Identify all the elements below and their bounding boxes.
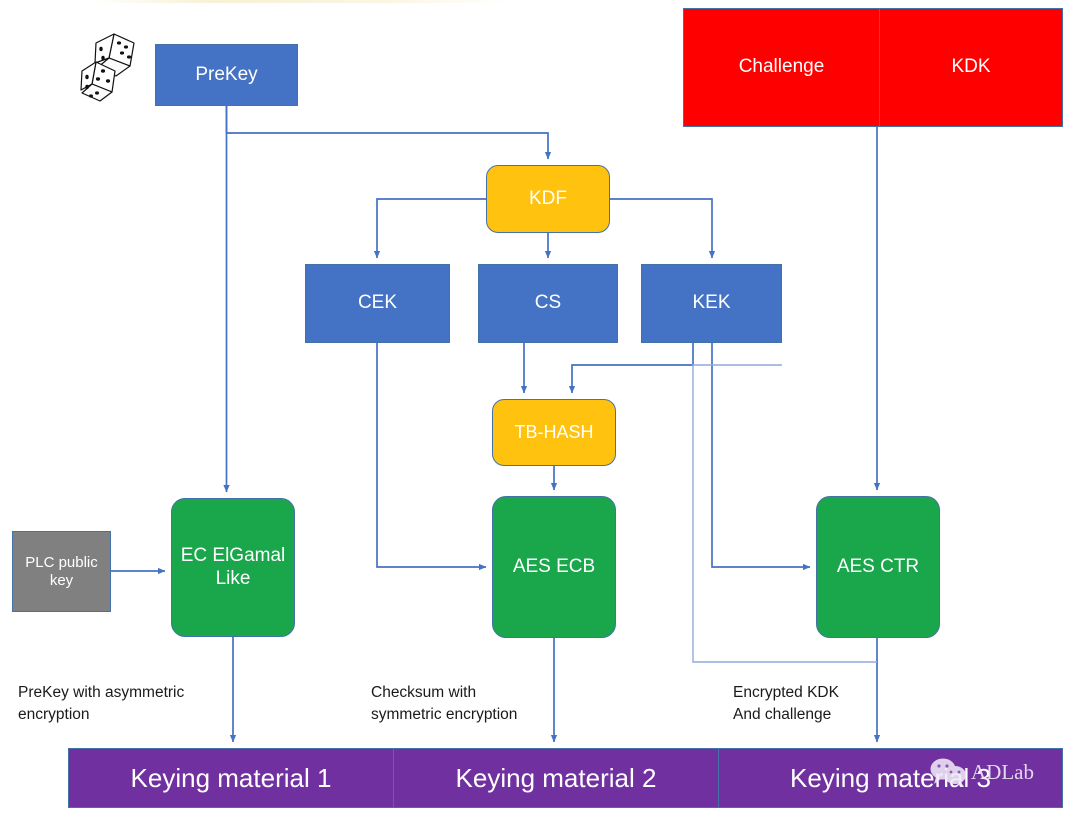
annotation-prekey-asymmetric: PreKey with asymmetric encryption [18, 682, 268, 727]
edge-kdf-to-cek [377, 199, 486, 258]
edge-kdf-to-kek [610, 199, 712, 258]
annotation-encrypted-kdk: Encrypted KDK And challenge [733, 682, 983, 727]
node-keying-material-2[interactable]: Keying material 2 [393, 748, 718, 808]
node-kdk-label: KDK [951, 56, 990, 78]
node-prekey-label: PreKey [195, 64, 257, 86]
node-cek-label: CEK [358, 292, 397, 314]
annotation-checksum-symmetric: Checksum with symmetric encryption [371, 682, 621, 727]
top-edge-artifact [90, 0, 510, 3]
edge-kek-to-tbhash [572, 343, 693, 393]
node-aes-ctr-label: AES CTR [837, 556, 919, 578]
node-kdf[interactable]: KDF [486, 165, 610, 233]
edge-prekey-to-kdf [227, 106, 549, 159]
edge-kek-to-aesctr [712, 343, 810, 567]
node-cs-label: CS [535, 292, 561, 314]
node-challenge[interactable]: Challenge [683, 8, 879, 127]
node-keying-material-1[interactable]: Keying material 1 [68, 748, 393, 808]
node-keying-material-1-label: Keying material 1 [131, 763, 332, 794]
node-kek-label: KEK [692, 292, 730, 314]
node-keying-material-2-label: Keying material 2 [456, 763, 657, 794]
node-tb-hash-label: TB-HASH [514, 422, 593, 443]
watermark: ADLab [930, 757, 1034, 787]
node-aes-ctr[interactable]: AES CTR [816, 496, 940, 638]
watermark-text: ADLab [971, 760, 1034, 785]
diagram-canvas: PreKey Challenge KDK KDF CEK CS KEK TB-H… [0, 0, 1080, 823]
node-ec-elgamal-like[interactable]: EC ElGamal Like [171, 498, 295, 637]
node-tb-hash[interactable]: TB-HASH [492, 399, 616, 466]
node-challenge-label: Challenge [739, 56, 825, 78]
node-plc-public-key-label: PLC public key [13, 554, 110, 589]
dice-icon [78, 30, 148, 106]
edge-cek-to-aesecb [377, 343, 486, 567]
node-kek[interactable]: KEK [641, 264, 782, 343]
wechat-icon [930, 757, 968, 787]
node-prekey[interactable]: PreKey [155, 44, 298, 106]
node-cek[interactable]: CEK [305, 264, 450, 343]
node-ec-elgamal-like-label: EC ElGamal Like [172, 545, 294, 590]
node-aes-ecb[interactable]: AES ECB [492, 496, 616, 638]
node-kdf-label: KDF [529, 188, 567, 210]
node-aes-ecb-label: AES ECB [513, 556, 595, 578]
node-kdk[interactable]: KDK [879, 8, 1063, 127]
node-cs[interactable]: CS [478, 264, 618, 343]
node-plc-public-key[interactable]: PLC public key [12, 531, 111, 612]
